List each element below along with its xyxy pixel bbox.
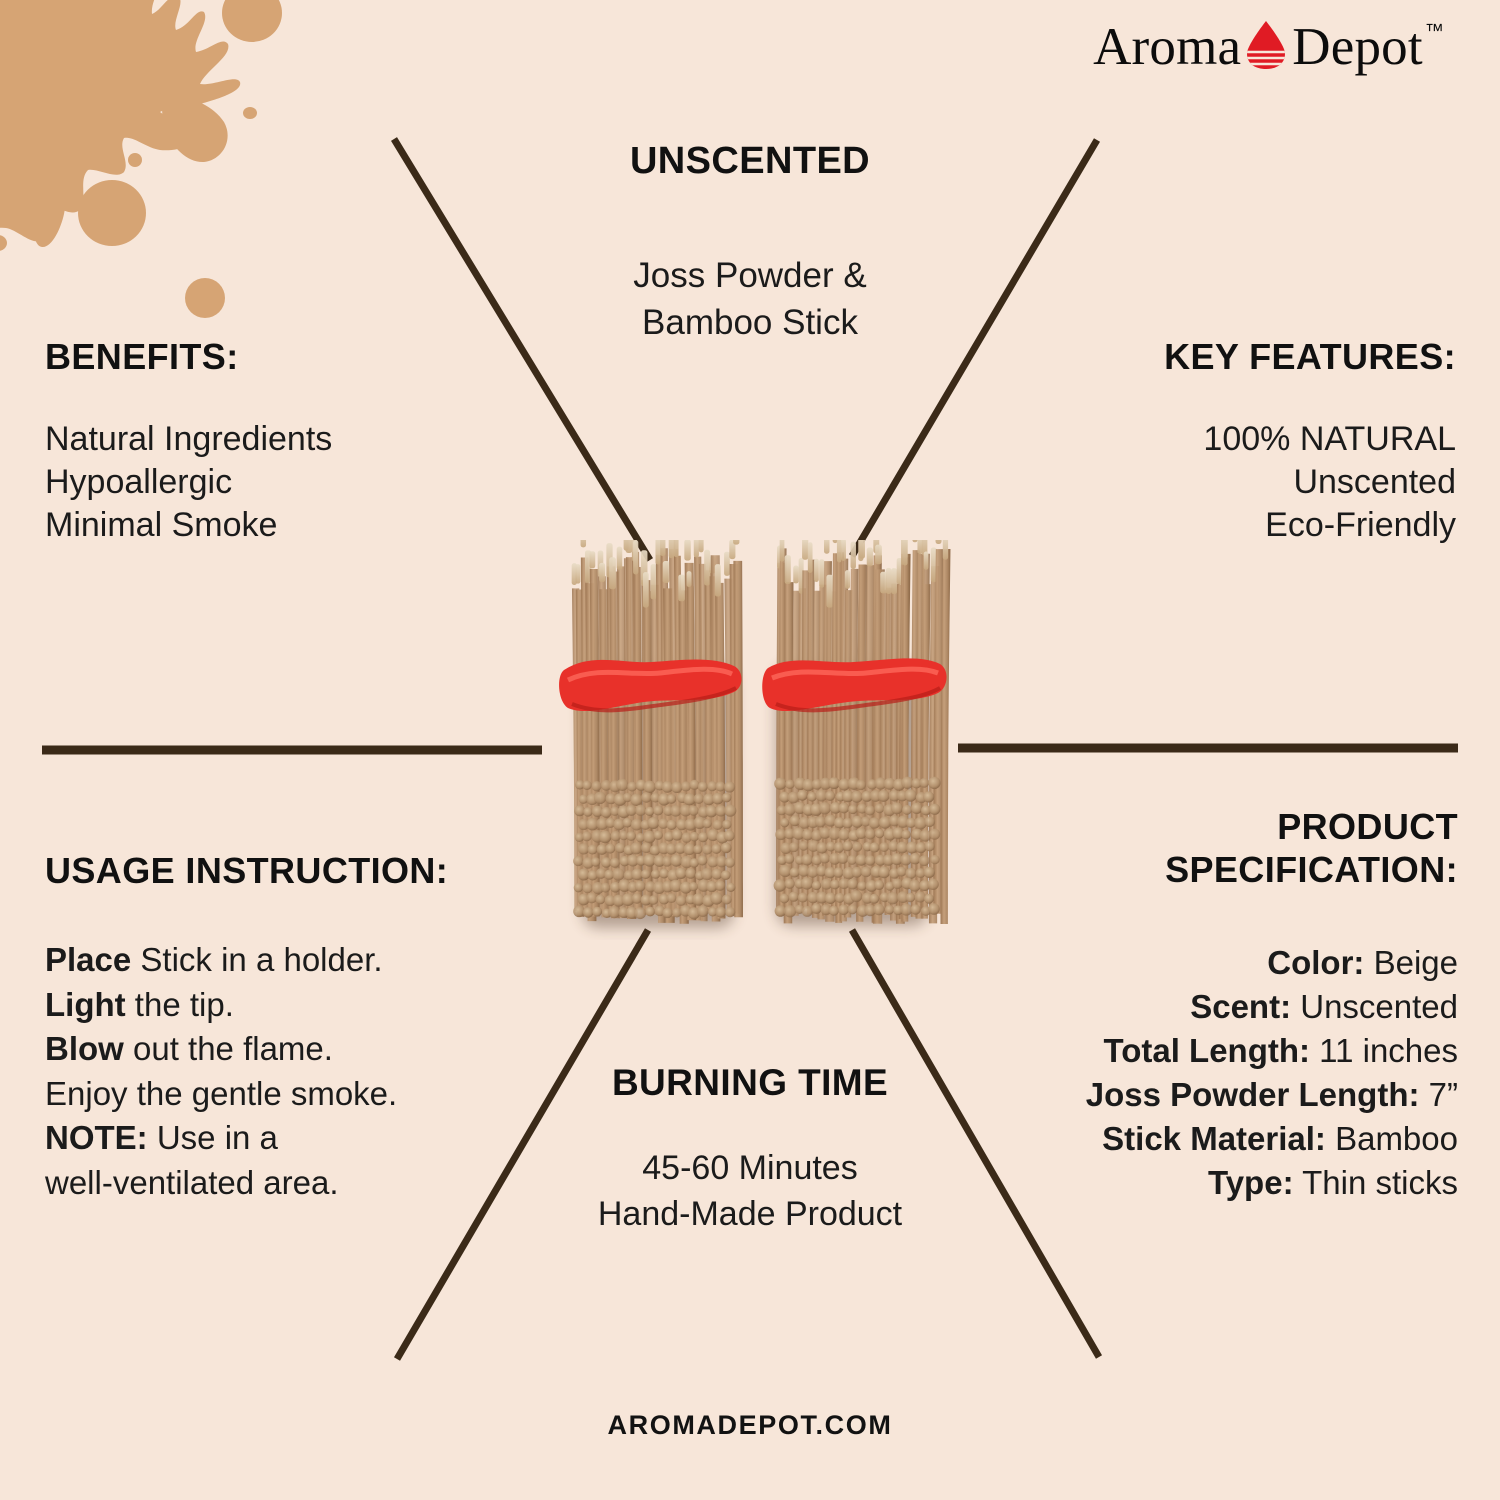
incense-stick-bundles-photo bbox=[548, 540, 960, 940]
benefits-item: Natural Ingredients bbox=[45, 418, 475, 461]
product-specification-heading: PRODUCT SPECIFICATION: bbox=[1000, 805, 1458, 891]
droplet-icon bbox=[1244, 19, 1288, 81]
usage-step: Light the tip. bbox=[45, 983, 525, 1028]
footer-website[interactable]: AROMADEPOT.COM bbox=[0, 1410, 1500, 1441]
burning-time-body: 45-60 Minutes Hand-Made Product bbox=[480, 1146, 1020, 1237]
key-features-item: Unscented bbox=[1020, 461, 1456, 504]
spec-row-label: Color: bbox=[1267, 944, 1364, 981]
unscented-section: UNSCENTED Joss Powder & Bamboo Stick bbox=[425, 140, 1075, 346]
burning-time-heading: BURNING TIME bbox=[480, 1062, 1020, 1104]
usage-step: Place Stick in a holder. bbox=[45, 938, 525, 983]
usage-step: well-ventilated area. bbox=[45, 1161, 525, 1206]
usage-step-keyword: Blow bbox=[45, 1030, 124, 1067]
benefits-section: BENEFITS: Natural Ingredients Hypoallerg… bbox=[45, 336, 475, 548]
spec-row: Total Length: 11 inches bbox=[1000, 1029, 1458, 1073]
unscented-line-2: Bamboo Stick bbox=[425, 300, 1075, 347]
spec-row-label: Scent: bbox=[1190, 988, 1291, 1025]
key-features-section: KEY FEATURES: 100% NATURAL Unscented Eco… bbox=[1020, 336, 1456, 548]
usage-instruction-section: USAGE INSTRUCTION: Place Stick in a hold… bbox=[45, 850, 525, 1205]
usage-instruction-heading: USAGE INSTRUCTION: bbox=[45, 850, 525, 892]
usage-step-keyword: Light bbox=[45, 986, 126, 1023]
spec-row-label: Stick Material: bbox=[1102, 1120, 1326, 1157]
spec-row: Color: Beige bbox=[1000, 941, 1458, 985]
spec-row: Joss Powder Length: 7” bbox=[1000, 1073, 1458, 1117]
benefits-item: Hypoallergic bbox=[45, 461, 475, 504]
product-specification-section: PRODUCT SPECIFICATION: Color: BeigeScent… bbox=[1000, 805, 1458, 1205]
trademark-symbol: ™ bbox=[1425, 22, 1444, 41]
usage-step-keyword: NOTE: bbox=[45, 1119, 148, 1156]
infographic-canvas: Aroma Depot ™ bbox=[0, 0, 1500, 1500]
spec-heading-line-1: PRODUCT bbox=[1000, 805, 1458, 848]
spec-row: Scent: Unscented bbox=[1000, 985, 1458, 1029]
brand-name-part2: Depot bbox=[1292, 21, 1423, 74]
usage-step: Enjoy the gentle smoke. bbox=[45, 1072, 525, 1117]
usage-step-keyword: Place bbox=[45, 941, 131, 978]
key-features-list: 100% NATURAL Unscented Eco-Friendly bbox=[1020, 418, 1456, 548]
brand-name-part1: Aroma bbox=[1093, 21, 1241, 74]
usage-step: Blow out the flame. bbox=[45, 1027, 525, 1072]
key-features-item: Eco-Friendly bbox=[1020, 504, 1456, 547]
benefits-heading: BENEFITS: bbox=[45, 336, 475, 378]
usage-step: NOTE: Use in a bbox=[45, 1116, 525, 1161]
spec-heading-line-2: SPECIFICATION: bbox=[1000, 848, 1458, 891]
spec-row-label: Total Length: bbox=[1104, 1032, 1311, 1069]
unscented-heading: UNSCENTED bbox=[425, 140, 1075, 183]
key-features-heading: KEY FEATURES: bbox=[1020, 336, 1456, 378]
benefits-item: Minimal Smoke bbox=[45, 504, 475, 547]
spec-row: Stick Material: Bamboo bbox=[1000, 1117, 1458, 1161]
spec-row: Type: Thin sticks bbox=[1000, 1161, 1458, 1205]
spec-row-label: Type: bbox=[1208, 1164, 1294, 1201]
brand-logo: Aroma Depot ™ bbox=[1093, 16, 1442, 78]
unscented-body: Joss Powder & Bamboo Stick bbox=[425, 253, 1075, 346]
benefits-list: Natural Ingredients Hypoallergic Minimal… bbox=[45, 418, 475, 548]
product-specification-list: Color: BeigeScent: UnscentedTotal Length… bbox=[1000, 941, 1458, 1204]
unscented-line-1: Joss Powder & bbox=[425, 253, 1075, 300]
key-features-item: 100% NATURAL bbox=[1020, 418, 1456, 461]
spec-row-label: Joss Powder Length: bbox=[1086, 1076, 1420, 1113]
burning-time-section: BURNING TIME 45-60 Minutes Hand-Made Pro… bbox=[480, 1062, 1020, 1237]
paint-splatter-decoration bbox=[0, 0, 300, 340]
burning-time-line-1: 45-60 Minutes bbox=[480, 1146, 1020, 1192]
usage-instruction-list: Place Stick in a holder.Light the tip.Bl… bbox=[45, 938, 525, 1205]
burning-time-line-2: Hand-Made Product bbox=[480, 1192, 1020, 1238]
